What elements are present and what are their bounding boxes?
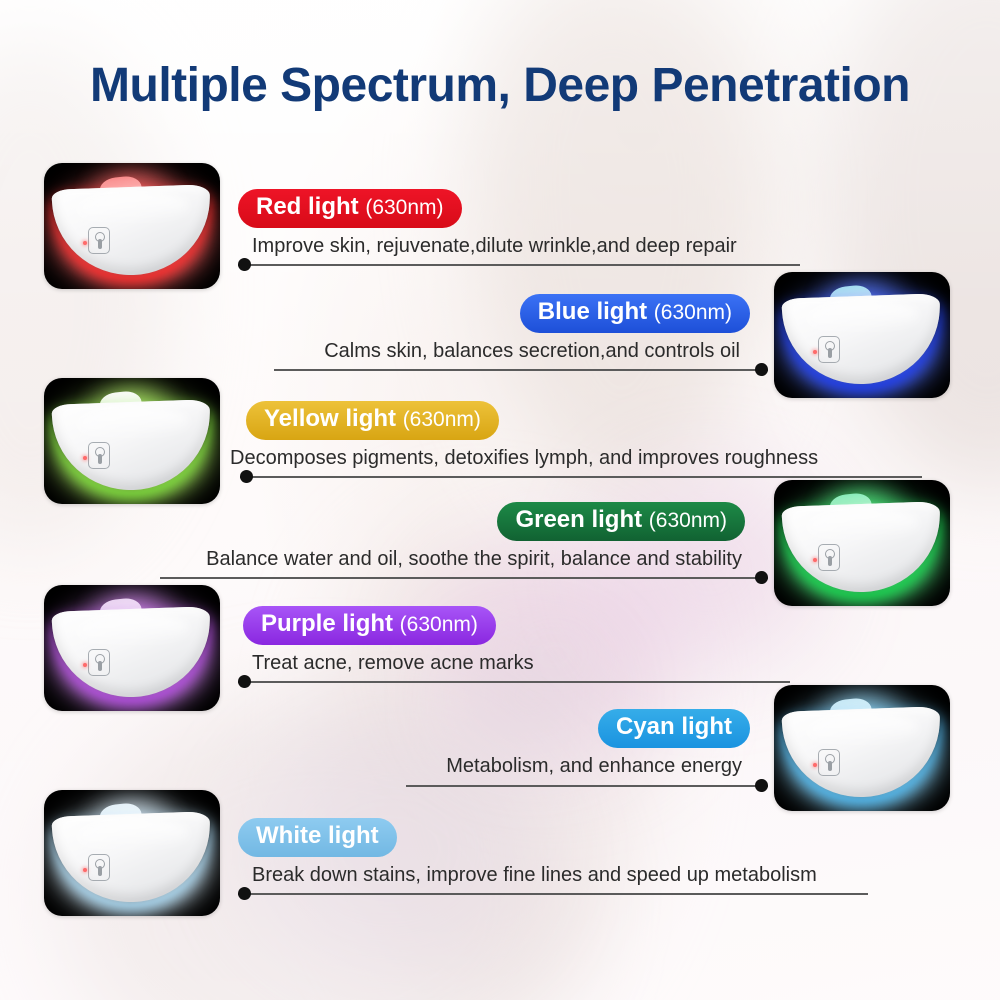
connector-dot — [240, 470, 253, 483]
description-wrapper-white: Break down stains, improve fine lines an… — [252, 863, 817, 887]
badge-wrapper-blue: Blue light (630nm) — [0, 294, 750, 333]
light-badge-yellow[interactable]: Yellow light (630nm) — [246, 401, 499, 440]
light-description-white: Break down stains, improve fine lines an… — [252, 864, 817, 886]
connector-dot — [755, 363, 768, 376]
light-description-purple: Treat acne, remove acne marks — [252, 652, 534, 674]
light-badge-blue[interactable]: Blue light (630nm) — [520, 294, 750, 333]
connector-dot — [238, 258, 251, 271]
device-image-yellow — [44, 378, 220, 504]
connector-stroke — [238, 681, 790, 683]
device-indicator-led-icon — [813, 558, 817, 562]
device-indicator-led-icon — [83, 868, 87, 872]
light-badge-green[interactable]: Green light (630nm) — [497, 502, 745, 541]
device-logo-icon — [818, 336, 840, 363]
description-wrapper-green: Balance water and oil, soothe the spirit… — [0, 547, 742, 571]
description-wrapper-cyan: Metabolism, and enhance energy — [0, 754, 742, 778]
device-image-purple — [44, 585, 220, 711]
device-image-cyan — [774, 685, 950, 811]
connector-stroke — [274, 369, 768, 371]
description-wrapper-purple: Treat acne, remove acne marks — [252, 651, 534, 675]
device-logo-icon — [818, 749, 840, 776]
connector-stroke — [406, 785, 768, 787]
light-badge-name-red: Red light — [256, 193, 359, 220]
description-wrapper-red: Improve skin, rejuvenate,dilute wrinkle,… — [252, 234, 737, 258]
light-description-green: Balance water and oil, soothe the spirit… — [206, 548, 742, 570]
light-badge-white[interactable]: White light — [238, 818, 397, 857]
device-indicator-led-icon — [813, 350, 817, 354]
device-logo-icon — [818, 544, 840, 571]
light-badge-name-yellow: Yellow light — [264, 405, 396, 432]
light-badge-name-cyan: Cyan light — [616, 713, 732, 740]
light-badge-wavelength-yellow: (630nm) — [403, 408, 481, 431]
light-badge-wavelength-purple: (630nm) — [400, 613, 478, 636]
light-badge-wavelength-blue: (630nm) — [654, 301, 732, 324]
badge-wrapper-white: White light — [238, 818, 397, 857]
device-logo-icon — [88, 227, 110, 254]
infographic-page: Multiple Spectrum, Deep Penetration Red … — [0, 0, 1000, 1000]
light-description-yellow: Decomposes pigments, detoxifies lymph, a… — [230, 447, 818, 469]
light-description-blue: Calms skin, balances secretion,and contr… — [324, 340, 740, 362]
badge-wrapper-yellow: Yellow light (630nm) — [246, 401, 499, 440]
device-image-blue — [774, 272, 950, 398]
light-badge-name-blue: Blue light — [538, 298, 647, 325]
connector-dot — [238, 675, 251, 688]
connector-line-blue — [274, 363, 768, 377]
connector-line-green — [160, 571, 768, 585]
connector-stroke — [240, 476, 922, 478]
light-badge-name-green: Green light — [515, 506, 642, 533]
connector-line-purple — [238, 675, 790, 689]
connector-line-white — [238, 887, 868, 901]
badge-wrapper-green: Green light (630nm) — [0, 502, 745, 541]
connector-dot — [755, 779, 768, 792]
connector-line-red — [238, 258, 800, 272]
light-badge-red[interactable]: Red light (630nm) — [238, 189, 462, 228]
device-indicator-led-icon — [83, 241, 87, 245]
device-logo-icon — [88, 649, 110, 676]
page-title: Multiple Spectrum, Deep Penetration — [0, 58, 1000, 113]
spectrum-rows: Red light (630nm)Improve skin, rejuvenat… — [0, 0, 1000, 1000]
description-wrapper-blue: Calms skin, balances secretion,and contr… — [0, 339, 740, 363]
device-logo-icon — [88, 854, 110, 881]
light-badge-wavelength-red: (630nm) — [365, 196, 443, 219]
description-wrapper-yellow: Decomposes pigments, detoxifies lymph, a… — [230, 446, 818, 470]
light-badge-purple[interactable]: Purple light (630nm) — [243, 606, 496, 645]
connector-dot — [238, 887, 251, 900]
light-badge-cyan[interactable]: Cyan light — [598, 709, 750, 748]
light-description-red: Improve skin, rejuvenate,dilute wrinkle,… — [252, 235, 737, 257]
connector-stroke — [238, 893, 868, 895]
light-description-cyan: Metabolism, and enhance energy — [446, 755, 742, 777]
connector-line-cyan — [406, 779, 768, 793]
badge-wrapper-cyan: Cyan light — [0, 709, 750, 748]
badge-wrapper-red: Red light (630nm) — [238, 189, 462, 228]
device-logo-icon — [88, 442, 110, 469]
device-image-white — [44, 790, 220, 916]
device-image-red — [44, 163, 220, 289]
light-badge-wavelength-green: (630nm) — [649, 509, 727, 532]
device-indicator-led-icon — [83, 663, 87, 667]
badge-wrapper-purple: Purple light (630nm) — [243, 606, 496, 645]
device-indicator-led-icon — [83, 456, 87, 460]
device-indicator-led-icon — [813, 763, 817, 767]
light-badge-name-purple: Purple light — [261, 610, 393, 637]
light-badge-name-white: White light — [256, 822, 379, 849]
connector-stroke — [160, 577, 768, 579]
connector-dot — [755, 571, 768, 584]
connector-stroke — [238, 264, 800, 266]
device-image-green — [774, 480, 950, 606]
